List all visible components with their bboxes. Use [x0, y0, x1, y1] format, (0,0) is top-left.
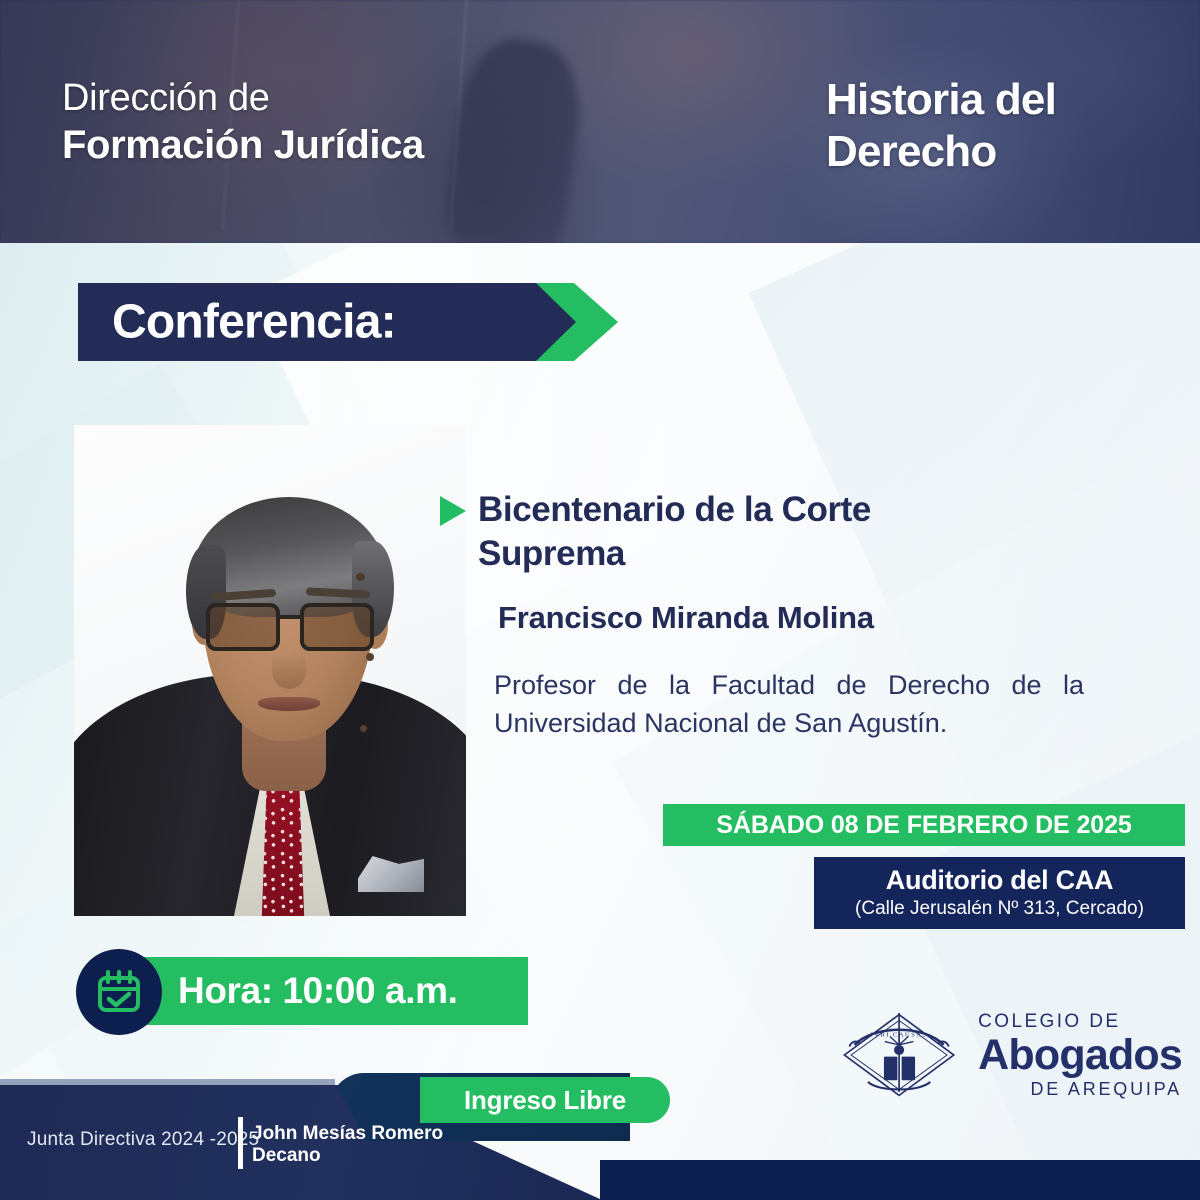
bar-association-logo: IVRI CAUSAS COLEGIO DE Abogados DE AREQU… [836, 995, 1182, 1115]
header-department-line1: Dirección de [62, 78, 424, 118]
header-series-line2: Derecho [826, 128, 1056, 176]
shield-crest-icon: IVRI CAUSAS [836, 999, 962, 1111]
banner-label: Conferencia: [112, 295, 396, 350]
header-department: Dirección de Formación Jurídica [62, 78, 424, 167]
logo-line2: Abogados [978, 1034, 1182, 1077]
event-date-bar: SÁBADO 08 DE FEBRERO DE 2025 [663, 804, 1185, 846]
portrait-mouth [258, 697, 320, 711]
conferencia-banner: Conferencia: [78, 283, 618, 361]
admission-label: Ingreso Libre [464, 1085, 626, 1116]
board-label: Junta Directiva 2024 -2025 [27, 1129, 259, 1151]
logo-line3: DE AREQUIPA [978, 1080, 1182, 1098]
dean-title: Decano [252, 1145, 443, 1167]
header-series-title: Historia del Derecho [826, 76, 1056, 175]
event-poster: Dirección de Formación Jurídica Historia… [0, 0, 1200, 1200]
conference-topic: Bicentenario de la Corte Suprema [478, 488, 978, 576]
event-time-bar: Hora: 10:00 a.m. [104, 957, 528, 1025]
speaker-bio: Profesor de la Facultad de Derecho de la… [494, 666, 1084, 743]
event-time-label: Hora: 10:00 a.m. [178, 970, 457, 1012]
portrait-eyeglasses [204, 603, 380, 653]
portrait-lens-left [206, 603, 280, 651]
footer-divider [238, 1117, 243, 1169]
portrait-mole [366, 653, 374, 661]
logo-line1: COLEGIO DE [978, 1012, 1182, 1031]
admission-badge: Ingreso Libre [420, 1077, 670, 1123]
speaker-name: Francisco Miranda Molina [498, 600, 874, 636]
portrait-mole [360, 725, 367, 732]
speaker-portrait [74, 425, 466, 916]
calendar-check-icon [76, 949, 162, 1035]
header-series-line1: Historia del [826, 76, 1056, 124]
header-department-line2: Formación Jurídica [62, 124, 424, 166]
portrait-glasses-bridge [280, 615, 302, 619]
portrait-mole [356, 573, 365, 581]
venue-address: (Calle Jerusalén Nº 313, Cercado) [855, 898, 1144, 921]
dean-block: John Mesías Romero Decano [252, 1123, 443, 1168]
poster-header: Dirección de Formación Jurídica Historia… [0, 0, 1200, 243]
triangle-right-icon [440, 496, 466, 526]
dean-name: John Mesías Romero [252, 1123, 443, 1145]
event-venue-bar: Auditorio del CAA (Calle Jerusalén Nº 31… [814, 857, 1185, 929]
portrait-lens-right [300, 603, 374, 651]
portrait-nose [272, 653, 306, 689]
event-date-label: SÁBADO 08 DE FEBRERO DE 2025 [716, 811, 1131, 840]
footer-bottom-bar [600, 1160, 1200, 1200]
venue-name: Auditorio del CAA [886, 865, 1113, 896]
logo-wordmark: COLEGIO DE Abogados DE AREQUIPA [978, 1012, 1182, 1098]
svg-text:IVRI CAUSAS: IVRI CAUSAS [871, 1031, 928, 1038]
